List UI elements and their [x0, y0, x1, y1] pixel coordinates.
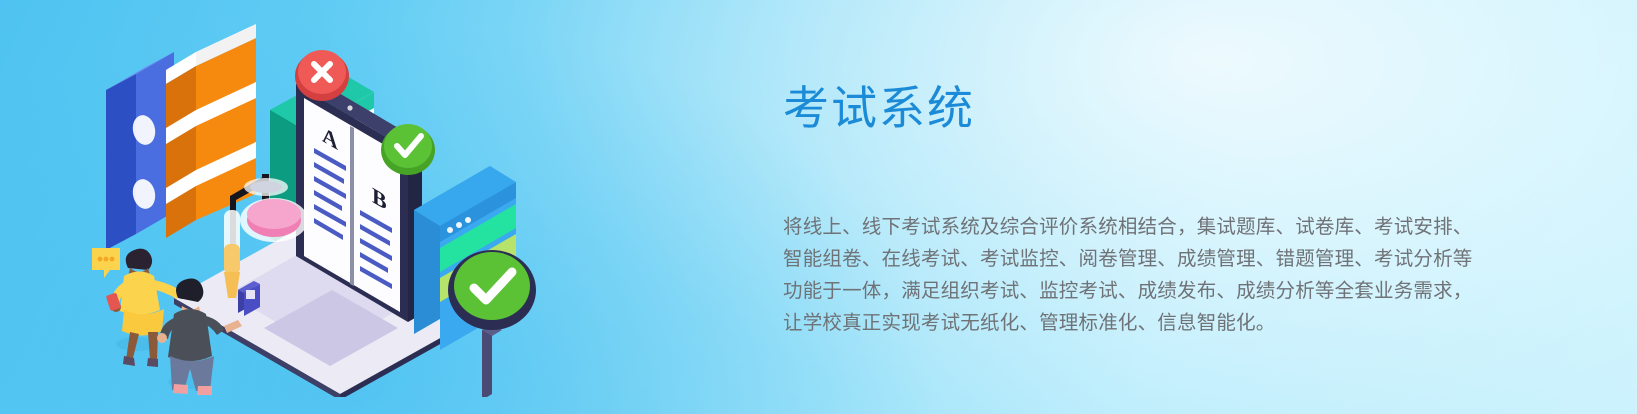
speech-bubble-icon: [92, 248, 120, 278]
description-line: 将线上、线下考试系统及综合评价系统相结合，集试题库、试卷库、考试安排、: [783, 211, 1483, 243]
description-line: 让学校真正实现考试无纸化、管理标准化、信息智能化。: [783, 307, 1483, 339]
banner-text-block: 考试系统 将线上、线下考试系统及综合评价系统相结合，集试题库、试卷库、考试安排、…: [783, 82, 1503, 339]
exam-system-banner: A B: [0, 0, 1637, 414]
exam-system-illustration: A B: [78, 22, 598, 397]
banner-description: 将线上、线下考试系统及综合评价系统相结合，集试题库、试卷库、考试安排、 智能组卷…: [783, 135, 1483, 339]
description-line: 功能于一体，满足组织考试、监控考试、成绩发布、成绩分析等全套业务需求，: [783, 275, 1483, 307]
book-orange-icon: [166, 24, 256, 238]
book-blue-icon: [106, 52, 174, 250]
badge-incorrect-icon: [295, 50, 349, 101]
page-title: 考试系统: [783, 82, 1503, 135]
description-line: 智能组卷、在线考试、考试监控、阅卷管理、成绩管理、错题管理、考试分析等: [783, 243, 1483, 275]
